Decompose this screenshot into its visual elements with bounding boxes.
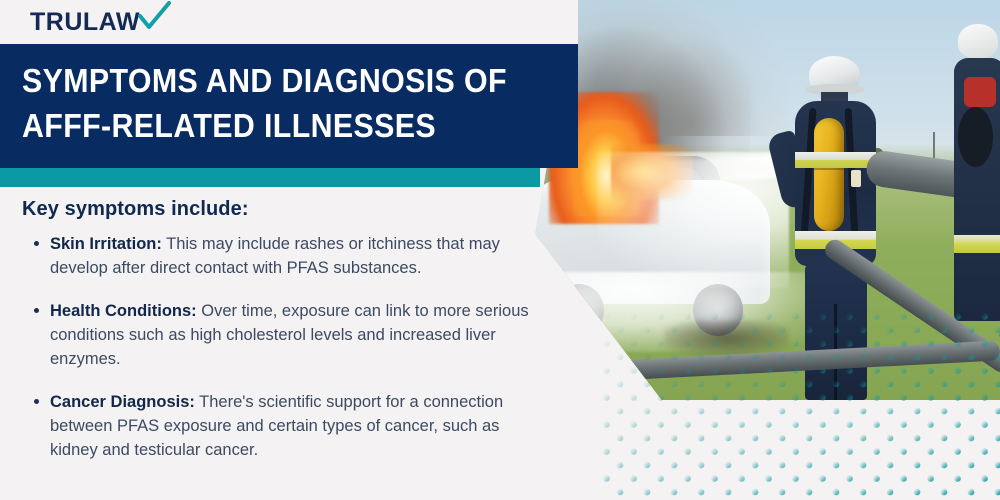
symptom-list: Skin Irritation: This may include rashes… xyxy=(22,232,532,462)
air-tank-icon xyxy=(814,118,844,232)
list-item-term: Cancer Diagnosis: xyxy=(50,393,195,411)
list-item: Skin Irritation: This may include rashes… xyxy=(22,232,532,280)
page-title: SYMPTOMS AND DIAGNOSIS OF AFFF-RELATED I… xyxy=(22,58,519,148)
logo-bar: TRULAW xyxy=(0,0,578,44)
gear-badge xyxy=(851,170,861,187)
red-equipment xyxy=(964,77,996,107)
list-item: Health Conditions: Over time, exposure c… xyxy=(22,299,532,371)
hose-coupling xyxy=(958,107,994,167)
teal-dot-grid xyxy=(600,310,1000,500)
helmet-icon xyxy=(958,24,998,58)
trulaw-logo[interactable]: TRULAW xyxy=(30,8,172,37)
logo-wordmark: TRULAW xyxy=(30,8,140,37)
page-title-line-1: SYMPTOMS AND DIAGNOSIS OF xyxy=(22,58,519,103)
list-item-term: Skin Irritation: xyxy=(50,235,162,253)
infographic-canvas: TRULAW SYMPTOMS AND DIAGNOSIS OF AFFF-RE… xyxy=(0,0,1000,500)
headline-block: SYMPTOMS AND DIAGNOSIS OF AFFF-RELATED I… xyxy=(0,44,578,168)
list-item-term: Health Conditions: xyxy=(50,302,197,320)
teal-accent-bar xyxy=(0,168,540,187)
page-title-line-2: AFFF-RELATED ILLNESSES xyxy=(22,103,519,148)
list-item: Cancer Diagnosis: There's scientific sup… xyxy=(22,390,532,462)
reflective-stripe xyxy=(795,152,876,168)
reflective-stripe xyxy=(954,235,1000,254)
check-icon xyxy=(138,1,172,36)
lead-text: Key symptoms include: xyxy=(22,198,249,221)
